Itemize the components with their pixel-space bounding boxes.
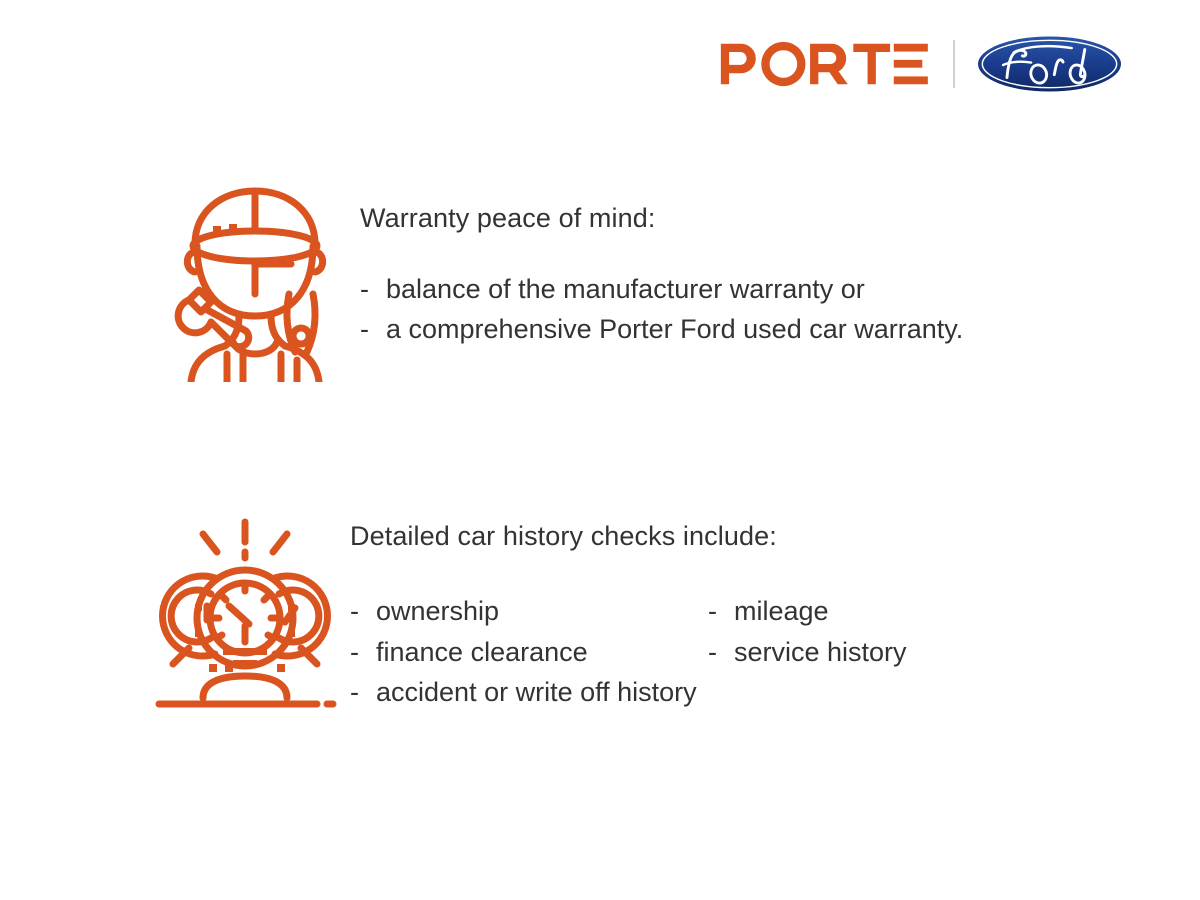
section-warranty: Warranty peace of mind: - balance of the… xyxy=(150,176,963,382)
warranty-text-body: Warranty peace of mind: - balance of the… xyxy=(360,176,963,349)
ford-logo[interactable] xyxy=(977,35,1122,93)
list-item: - accident or write off history xyxy=(350,673,907,712)
list-item: - service history xyxy=(708,633,907,672)
bullet-label: finance clearance xyxy=(376,633,588,672)
list-item: - mileage xyxy=(708,592,907,631)
bullet-dash: - xyxy=(350,673,376,712)
section-history-checks: Detailed car history checks include: - o… xyxy=(140,500,907,712)
bullet-dash: - xyxy=(360,270,386,309)
list-item: - finance clearance xyxy=(350,633,708,672)
bullet-dash: - xyxy=(350,633,376,672)
list-item: - balance of the manufacturer warranty o… xyxy=(360,270,963,309)
slide-root: Warranty peace of mind: - balance of the… xyxy=(0,0,1200,900)
warranty-bullet-list: - balance of the manufacturer warranty o… xyxy=(360,270,963,348)
bullet-label: balance of the manufacturer warranty or xyxy=(386,270,865,309)
history-text-body: Detailed car history checks include: - o… xyxy=(350,500,907,712)
warranty-heading: Warranty peace of mind: xyxy=(360,202,963,234)
bullet-dash: - xyxy=(708,592,734,631)
list-item: - ownership xyxy=(350,592,708,631)
dashboard-gauges-warning-icon xyxy=(140,500,350,708)
porter-logo[interactable] xyxy=(719,41,935,87)
bullet-dash: - xyxy=(708,633,734,672)
bullet-label: accident or write off history xyxy=(376,673,697,712)
brand-bar xyxy=(719,32,1122,96)
history-heading: Detailed car history checks include: xyxy=(350,520,907,552)
bullet-label: ownership xyxy=(376,592,499,631)
mechanic-hard-hat-icon xyxy=(150,176,360,382)
list-item: - a comprehensive Porter Ford used car w… xyxy=(360,310,963,349)
history-bullet-grid: - ownership - mileage - finance clearanc… xyxy=(350,592,907,711)
bullet-dash: - xyxy=(360,310,386,349)
bullet-label: a comprehensive Porter Ford used car war… xyxy=(386,310,963,349)
brand-divider xyxy=(953,40,955,88)
bullet-label: service history xyxy=(734,633,907,672)
bullet-label: mileage xyxy=(734,592,829,631)
bullet-dash: - xyxy=(350,592,376,631)
